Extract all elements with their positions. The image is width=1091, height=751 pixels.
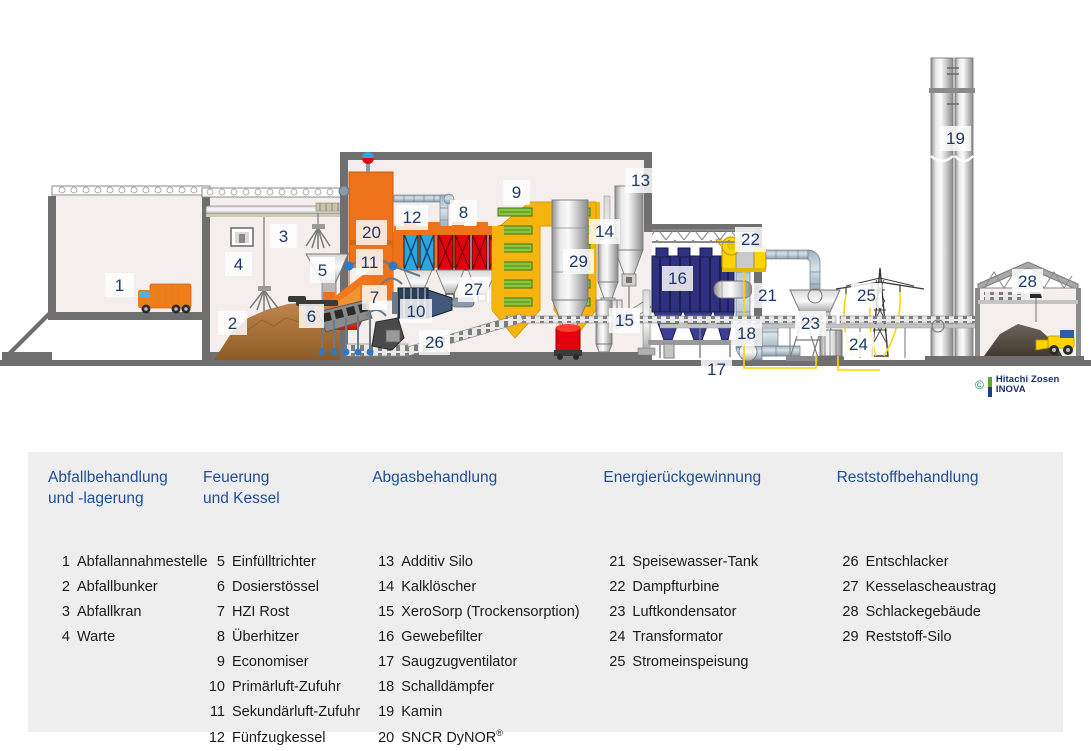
legend-item-label: Kamin [401,700,442,725]
legend-list: 5Einfülltrichter6Dosierstössel7HZI Rost8… [203,550,372,751]
legend-item-label: HZI Rost [232,600,289,625]
legend-panel: Abfallbehandlung und -lagerung1Abfallann… [28,452,1063,732]
legend-item-number: 2 [48,575,70,600]
legend-item: 6Dosierstössel [203,575,372,600]
legend-item-label: Abfallbunker [77,575,158,600]
legend-item-label: Sekundärluft-Zufuhr [232,700,360,725]
secondary-air-node-right [389,262,398,271]
legend-item: 29Reststoff-Silo [837,625,1053,650]
legend-item-label: Dosierstössel [232,575,319,600]
legend-item-number: 7 [203,600,225,625]
legend-heading: Energierückgewinnung [603,468,836,514]
legend-heading: Reststoffbehandlung [837,468,1053,514]
legend-column-4: Energierückgewinnung21Speisewasser-Tank2… [603,468,836,724]
legend-heading: Abgasbehandlung [372,468,603,514]
control-room [231,228,253,246]
legend-item-label: Fünfzugkessel [232,726,326,751]
legend-item-number: 27 [837,575,859,600]
legend-item: 4Warte [48,625,203,650]
legend-item-number: 9 [203,650,225,675]
legend-item-label: XeroSorp (Trockensorption) [401,600,579,625]
legend-item-label: Schalldämpfer [401,675,494,700]
legend-item: 17Saugzugventilator [372,650,603,675]
legend-item: 5Einfülltrichter [203,550,372,575]
legend-item-number: 20 [372,726,394,751]
logo-text: Hitachi Zosen INOVA [996,375,1060,395]
legend-item-number: 22 [603,575,625,600]
legend-column-5: Reststoffbehandlung26Entschlacker27Kesse… [837,468,1053,724]
page-root: 1234567891011121314151617181920212223242… [0,0,1091,744]
legend-item-label: Schlackegebäude [866,600,981,625]
legend-item-label: Luftkondensator [632,600,736,625]
legend-item-label: SNCR DyNOR® [401,726,503,751]
legend-item-number: 4 [48,625,70,650]
legend-column-1: Abfallbehandlung und -lagerung1Abfallann… [48,468,203,724]
legend-item-label: Einfülltrichter [232,550,316,575]
legend-item: 19Kamin [372,700,603,725]
legend-item-number: 26 [837,550,859,575]
legend-item-number: 23 [603,600,625,625]
legend-item-label: Entschlacker [866,550,949,575]
legend-item: 20SNCR DyNOR® [372,726,603,751]
legend-item-number: 14 [372,575,394,600]
logo-line-2: INOVA [996,385,1060,395]
slag-building [972,262,1084,362]
legend-item-number: 29 [837,625,859,650]
roof-truss [652,229,756,243]
legend-item-number: 28 [837,600,859,625]
legend-item-label: Abfallkran [77,600,141,625]
legend-item-number: 17 [372,650,394,675]
legend-column-2: Feuerung und Kessel5Einfülltrichter6Dosi… [203,468,372,724]
legend-item: 21Speisewasser-Tank [603,550,836,575]
legend-item: 25Stromeinspeisung [603,650,836,675]
legend-item-number: 18 [372,675,394,700]
legend-item-number: 12 [203,726,225,751]
secondary-air-node-left [345,262,354,271]
legend-list: 1Abfallannahmestelle2Abfallbunker3Abfall… [48,550,203,650]
legend-item-number: 6 [203,575,225,600]
legend-item-number: 21 [603,550,625,575]
legend-list: 13Additiv Silo14Kalklöscher15XeroSorp (T… [372,550,603,751]
legend-heading: Abfallbehandlung und -lagerung [48,468,203,514]
legend-item-label: Abfallannahmestelle [77,550,208,575]
legend-item-number: 19 [372,700,394,725]
copyright-icon: © [975,379,984,391]
legend-item: 2Abfallbunker [48,575,203,600]
legend-item: 3Abfallkran [48,600,203,625]
transformer [818,330,844,361]
legend-item-label: Überhitzer [232,625,299,650]
waste-reception-hall [2,186,216,360]
legend-item-number: 5 [203,550,225,575]
legend-item: 11Sekundärluft-Zufuhr [203,700,372,725]
legend-item-number: 16 [372,625,394,650]
legend-item-superscript: ® [496,728,503,738]
legend-item-label: Kalklöscher [401,575,476,600]
legend-item: 13Additiv Silo [372,550,603,575]
legend-item-number: 3 [48,600,70,625]
legend-item: 28Schlackegebäude [837,600,1053,625]
legend-item: 14Kalklöscher [372,575,603,600]
legend-item-label: Kesselascheaustrag [866,575,997,600]
legend-heading: Feuerung und Kessel [203,468,372,514]
legend-item: 9Economiser [203,650,372,675]
legend-item-number: 15 [372,600,394,625]
legend-item-label: Primärluft-Zufuhr [232,675,341,700]
legend-item-label: Additiv Silo [401,550,473,575]
legend-item: 8Überhitzer [203,625,372,650]
legend-item-label: Saugzugventilator [401,650,517,675]
stack [925,58,979,361]
legend-list: 21Speisewasser-Tank22Dampfturbine23Luftk… [603,550,836,675]
legend-item: 26Entschlacker [837,550,1053,575]
legend-item-label: Transformator [632,625,723,650]
legend-item-label: Gewebefilter [401,625,482,650]
legend-item-label: Speisewasser-Tank [632,550,758,575]
power-pylon [836,268,924,356]
legend-item: 27Kesselascheaustrag [837,575,1053,600]
legend-item: 24Transformator [603,625,836,650]
legend-item-number: 1 [48,550,70,575]
legend-columns: Abfallbehandlung und -lagerung1Abfallann… [48,468,1053,724]
legend-item-number: 11 [203,700,225,725]
legend-item: 15XeroSorp (Trockensorption) [372,600,603,625]
legend-item-label: Reststoff-Silo [866,625,952,650]
legend-item-number: 10 [203,675,225,700]
legend-item-number: 13 [372,550,394,575]
legend-item-label: Stromeinspeisung [632,650,748,675]
legend-item: 7HZI Rost [203,600,372,625]
legend-item: 18Schalldämpfer [372,675,603,700]
logo-bar-icon [988,377,992,397]
legend-item-label: Warte [77,625,115,650]
legend-item-number: 25 [603,650,625,675]
hitachi-zosen-inova-logo: © Hitachi Zosen INOVA [975,375,1059,397]
red-tank [554,324,582,360]
legend-list: 26Entschlacker27Kesselascheaustrag28Schl… [837,550,1053,650]
legend-item: 1Abfallannahmestelle [48,550,203,575]
legend-item-number: 8 [203,625,225,650]
legend-item: 23Luftkondensator [603,600,836,625]
legend-item: 10Primärluft-Zufuhr [203,675,372,700]
plant-diagram: 1234567891011121314151617181920212223242… [0,0,1091,440]
legend-item: 22Dampfturbine [603,575,836,600]
legend-column-3: Abgasbehandlung13Additiv Silo14Kalklösch… [372,468,603,724]
legend-item-label: Economiser [232,650,309,675]
feedwater-tank [714,281,752,298]
legend-item-number: 24 [603,625,625,650]
legend-item-label: Dampfturbine [632,575,719,600]
legend-item: 12Fünfzugkessel [203,726,372,751]
legend-item: 16Gewebefilter [372,625,603,650]
